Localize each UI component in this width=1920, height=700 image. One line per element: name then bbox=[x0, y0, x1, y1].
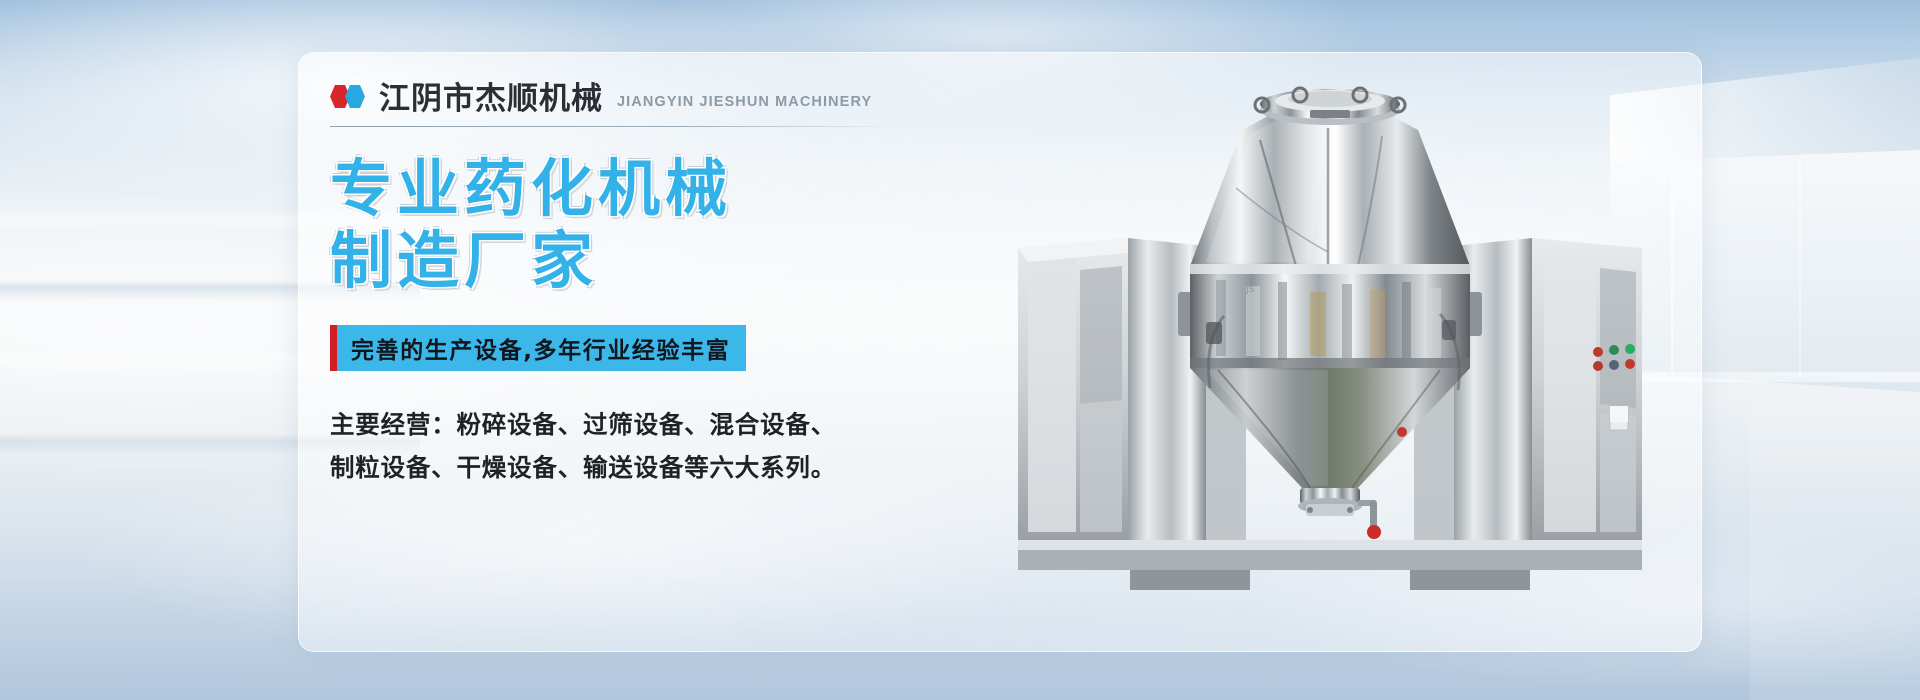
machine-base bbox=[1018, 540, 1642, 590]
headline: 专业药化机械 制造厂家 bbox=[330, 153, 970, 297]
headline-line-2: 制造厂家 bbox=[330, 225, 970, 297]
description-line-1: 主要经营：粉碎设备、过筛设备、混合设备、 bbox=[330, 403, 970, 446]
manway-lid bbox=[1255, 88, 1405, 125]
svg-text:JS: JS bbox=[1245, 285, 1255, 295]
headline-line-1: 专业药化机械 bbox=[330, 153, 970, 225]
hexagon-blue-icon bbox=[345, 85, 365, 108]
logo-mark bbox=[330, 85, 365, 108]
logo-row[interactable]: 江阴市杰顺机械 JIANGYIN JIESHUN MACHINERY bbox=[330, 52, 970, 115]
company-name-cn: 江阴市杰顺机械 bbox=[379, 84, 603, 115]
description-line-2: 制粒设备、干燥设备、输送设备等六大系列。 bbox=[330, 446, 970, 489]
highlight-banner: 完善的生产设备,多年行业经验丰富 bbox=[330, 325, 746, 371]
center-band: JS bbox=[1190, 264, 1470, 368]
highlight-text: 完善的生产设备,多年行业经验丰富 bbox=[351, 331, 730, 365]
discharge-valve bbox=[1298, 488, 1381, 539]
product-image: JS bbox=[1010, 70, 1650, 600]
text-content: 江阴市杰顺机械 JIANGYIN JIESHUN MACHINERY 专业药化机… bbox=[330, 52, 970, 652]
double-cone-mixer-illustration: JS bbox=[1010, 70, 1650, 600]
promo-banner: 江阴市杰顺机械 JIANGYIN JIESHUN MACHINERY 专业药化机… bbox=[0, 0, 1920, 700]
description-block: 主要经营：粉碎设备、过筛设备、混合设备、 制粒设备、干燥设备、输送设备等六大系列… bbox=[330, 403, 970, 489]
company-name-en: JIANGYIN JIESHUN MACHINERY bbox=[617, 94, 872, 110]
logo-divider bbox=[330, 126, 898, 127]
